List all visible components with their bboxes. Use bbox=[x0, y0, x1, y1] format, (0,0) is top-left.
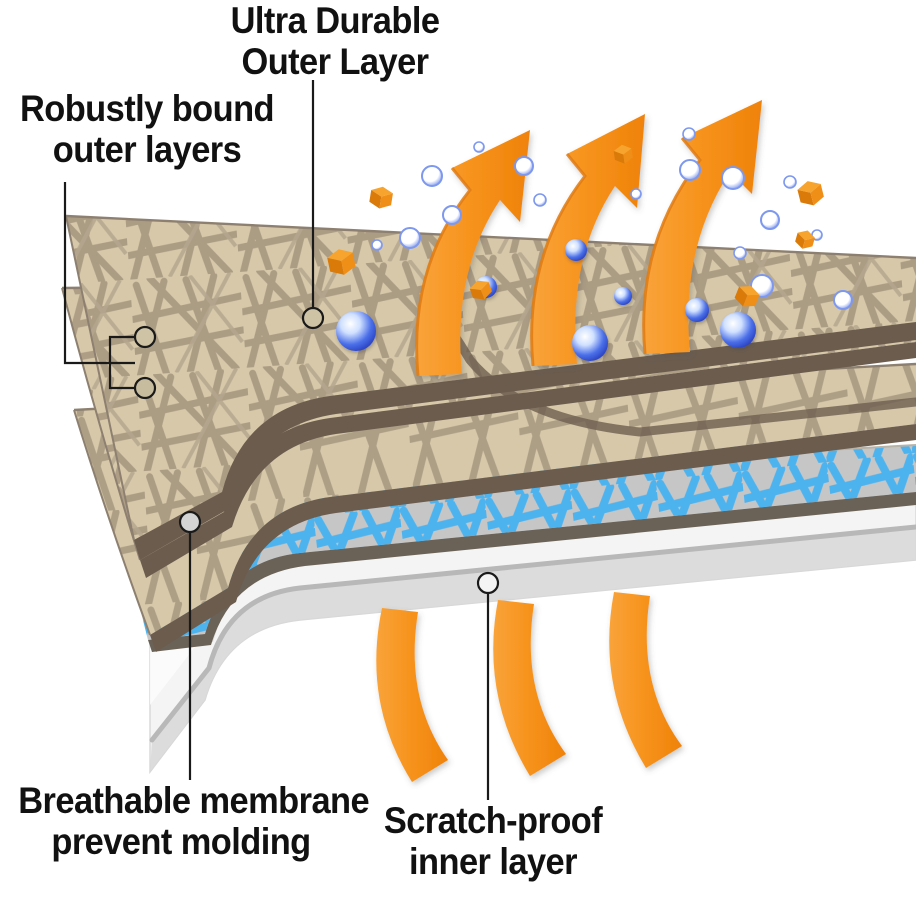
label-robustly-bound-outer-layers: Robustly bound outer layers bbox=[18, 88, 277, 171]
label-scratch-proof-inner-layer: Scratch-proof inner layer bbox=[369, 800, 616, 883]
label-ultra-durable-outer-layer: Ultra Durable Outer Layer bbox=[219, 0, 452, 83]
label-breathable-membrane: Breathable membrane prevent molding bbox=[18, 780, 344, 863]
